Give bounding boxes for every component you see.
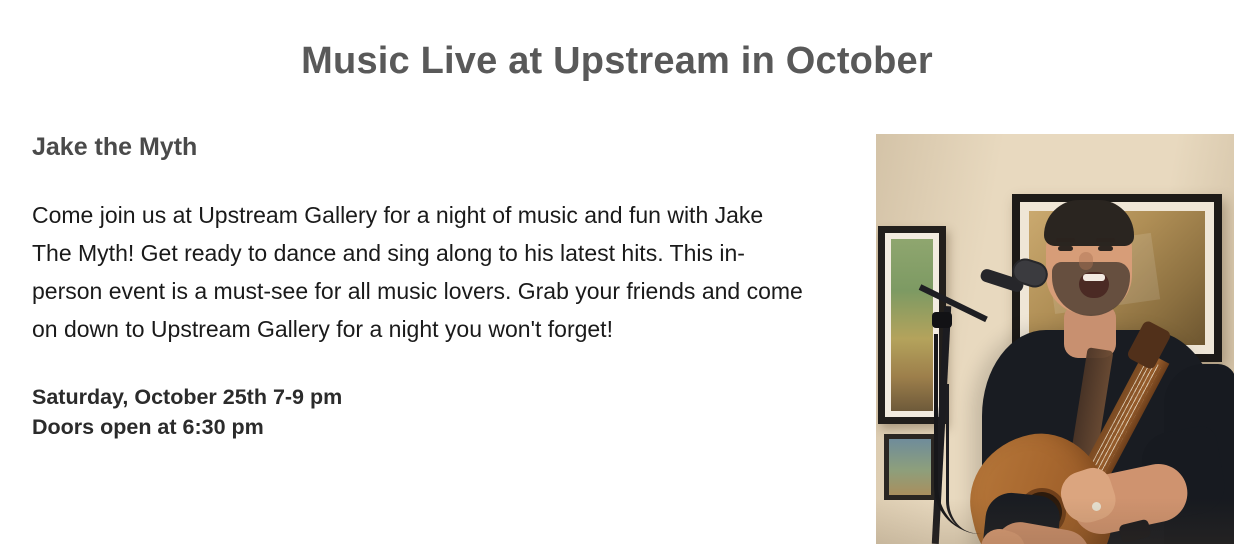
photo-floor-shadow	[876, 498, 1234, 544]
flyer-page: Music Live at Upstream in October Jake t…	[0, 0, 1234, 544]
showtime-date: Saturday, October 25th 7-9 pm	[32, 382, 832, 412]
showtime-block: Saturday, October 25th 7-9 pm Doors open…	[32, 382, 832, 442]
performer-eye-right	[1098, 246, 1113, 251]
performer-eye-left	[1058, 246, 1073, 251]
performer-eyebrow-right	[1096, 238, 1115, 242]
performer-nose	[1079, 252, 1093, 270]
showtime-doors: Doors open at 6:30 pm	[32, 412, 832, 442]
artist-name: Jake the Myth	[32, 134, 832, 162]
event-description: Come join us at Upstream Gallery for a n…	[32, 196, 807, 348]
performer-eyebrow-left	[1056, 238, 1075, 242]
microphone-stand-clamp	[932, 312, 952, 328]
performer-mouth	[1079, 272, 1109, 298]
photo-canvas	[876, 134, 1234, 544]
performer-figure	[876, 134, 1234, 544]
event-details: Jake the Myth Come join us at Upstream G…	[32, 134, 832, 442]
performer-photo	[876, 134, 1234, 544]
page-title: Music Live at Upstream in October	[0, 40, 1234, 83]
